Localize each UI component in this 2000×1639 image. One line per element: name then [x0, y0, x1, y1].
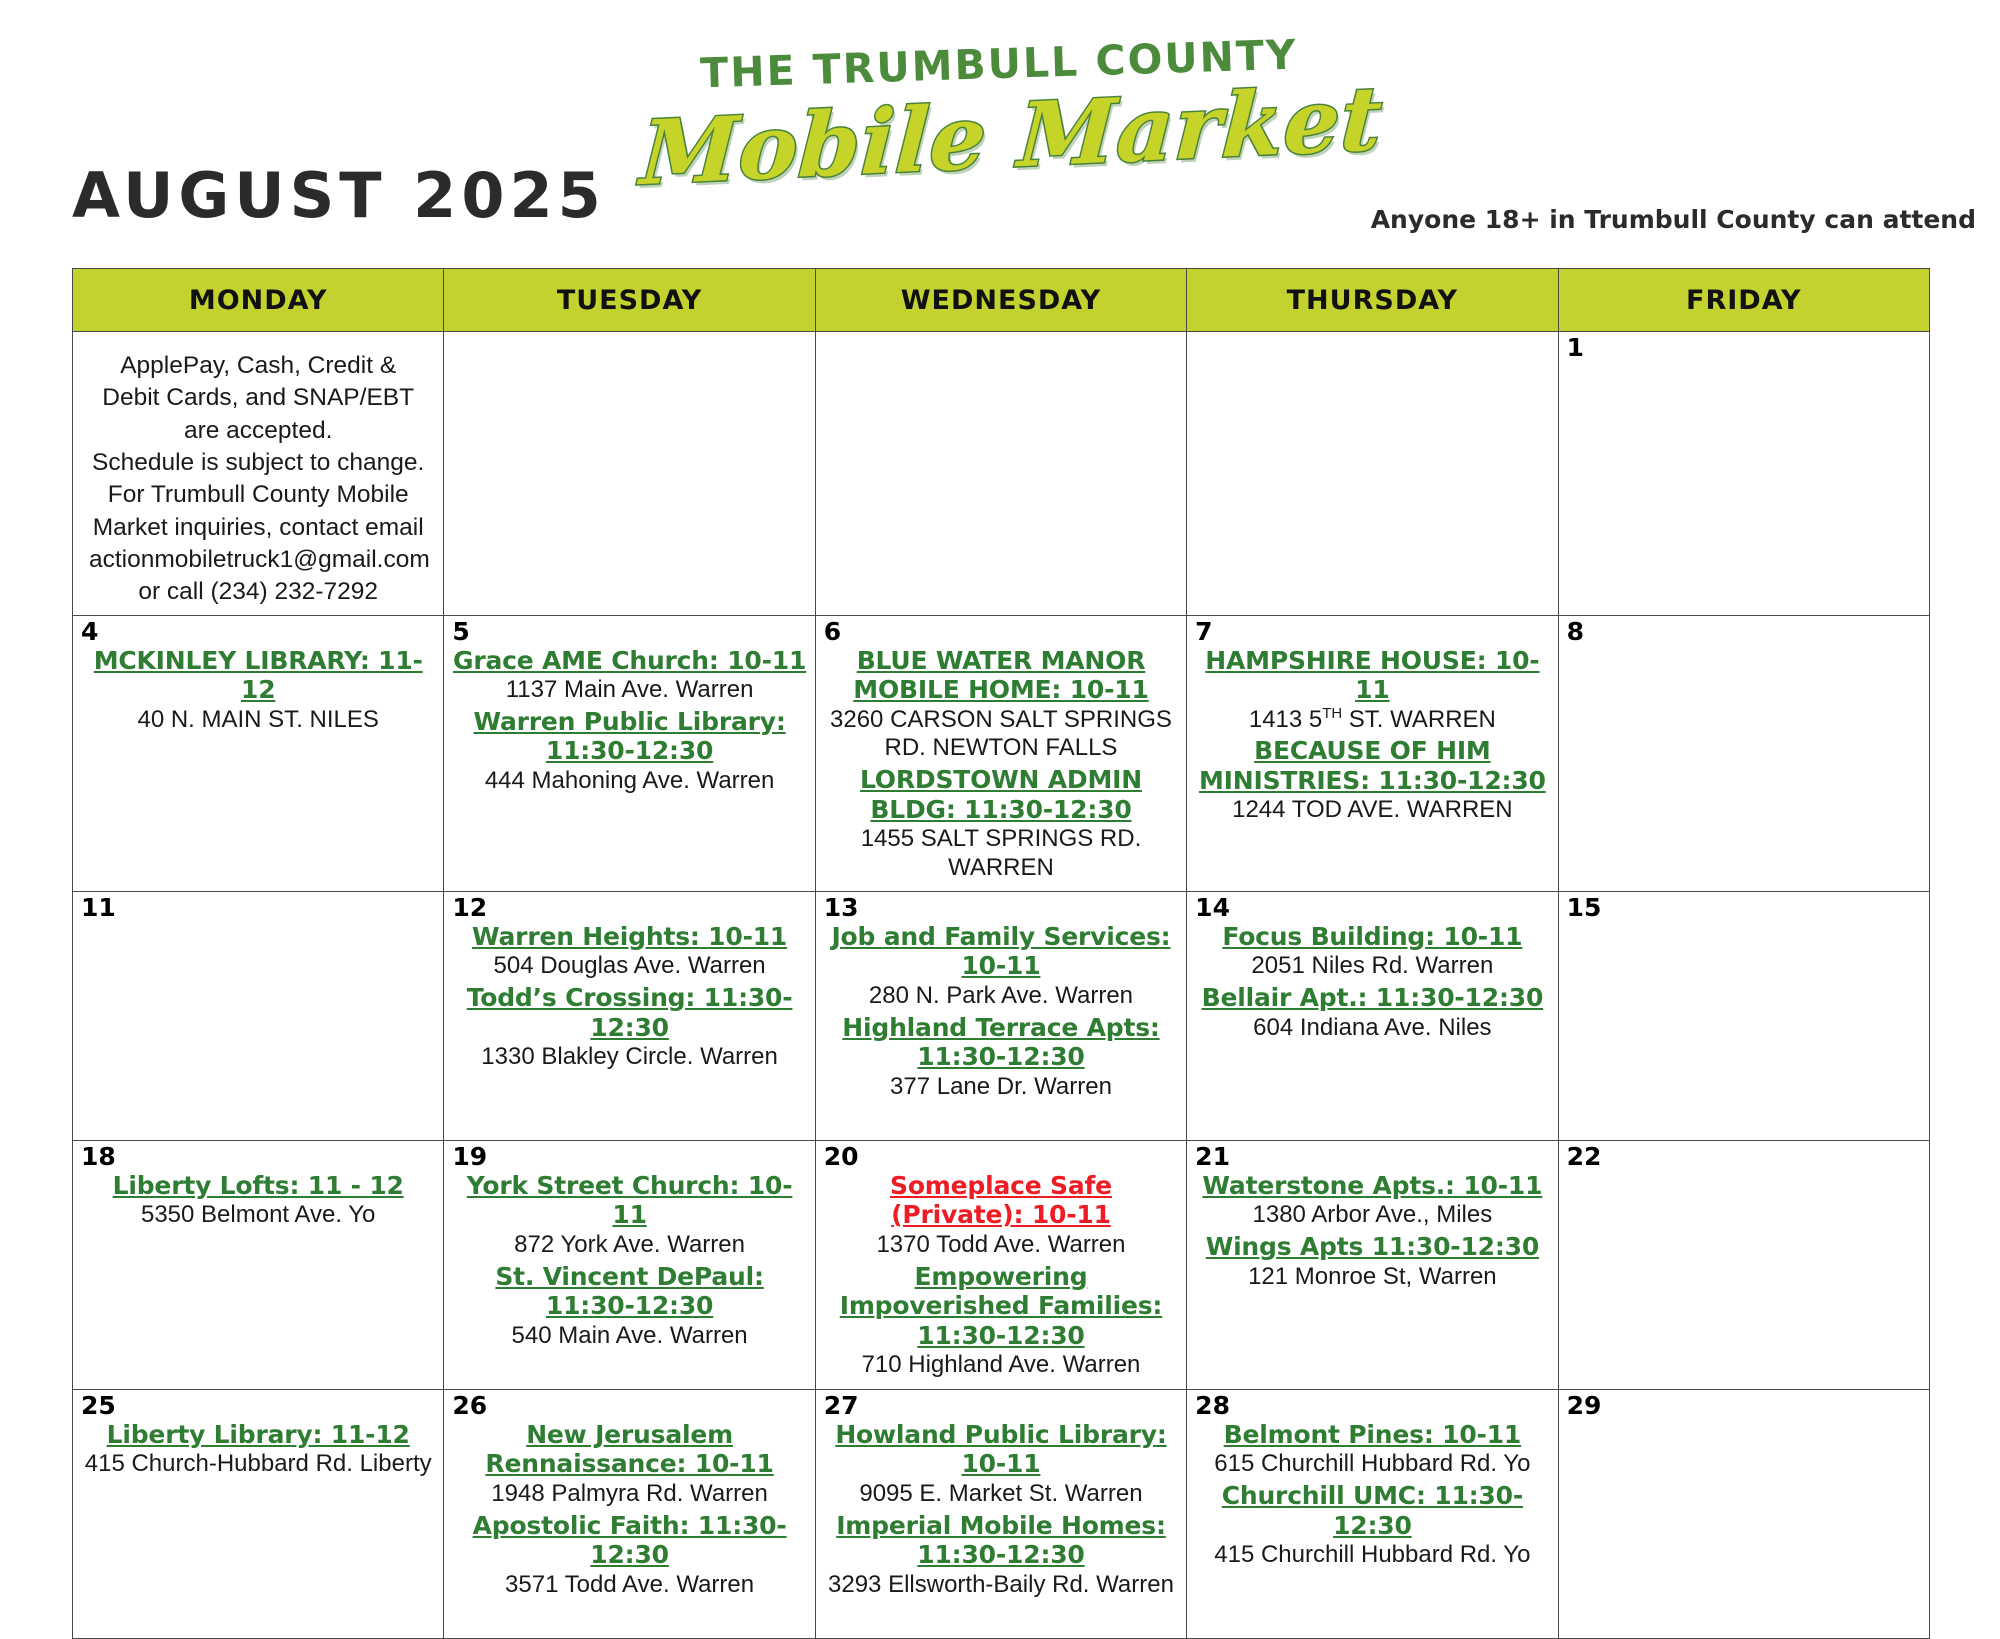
- weekday-header-row: MONDAY TUESDAY WEDNESDAY THURSDAY FRIDAY: [73, 269, 1930, 332]
- calendar-day-cell[interactable]: 18Liberty Lofts: 11 - 125350 Belmont Ave…: [73, 1140, 444, 1389]
- calendar-day-cell[interactable]: 29: [1558, 1389, 1929, 1638]
- day-number: 7: [1195, 618, 1212, 646]
- day-number: 19: [452, 1143, 487, 1171]
- weekday-header-tuesday: TUESDAY: [444, 269, 815, 332]
- calendar-event[interactable]: Job and Family Services: 10-11280 N. Par…: [824, 922, 1178, 1011]
- calendar-event[interactable]: New Jerusalem Rennaissance: 10-111948 Pa…: [452, 1420, 806, 1509]
- weekday-header-thursday: THURSDAY: [1187, 269, 1558, 332]
- day-events: Someplace Safe (Private): 10-111370 Todd…: [816, 1141, 1186, 1388]
- calendar-day-cell[interactable]: 15: [1558, 891, 1929, 1140]
- calendar-day-cell[interactable]: 1: [1558, 332, 1929, 616]
- calendar-day-cell[interactable]: 20Someplace Safe (Private): 10-111370 To…: [815, 1140, 1186, 1389]
- day-events: Howland Public Library: 10-119095 E. Mar…: [816, 1390, 1186, 1608]
- event-title: Todd’s Crossing: 11:30-12:30: [452, 983, 806, 1042]
- day-number: 12: [452, 894, 487, 922]
- calendar-event[interactable]: Apostolic Faith: 11:30-12:303571 Todd Av…: [452, 1511, 806, 1600]
- event-title: Warren Heights: 10-11: [452, 922, 806, 952]
- calendar-event[interactable]: Belmont Pines: 10-11615 Churchill Hubbar…: [1195, 1420, 1549, 1479]
- event-title: Highland Terrace Apts: 11:30-12:30: [824, 1013, 1178, 1072]
- day-number: 15: [1567, 894, 1602, 922]
- event-title: York Street Church: 10-11: [452, 1171, 806, 1230]
- calendar-day-cell[interactable]: [815, 332, 1186, 616]
- calendar-event[interactable]: Focus Building: 10-112051 Niles Rd. Warr…: [1195, 922, 1549, 981]
- event-address: 3260 CARSON SALT SPRINGS RD. NEWTON FALL…: [824, 706, 1178, 764]
- event-title: Belmont Pines: 10-11: [1195, 1420, 1549, 1450]
- day-number: 18: [81, 1143, 116, 1171]
- page-title: AUGUST 2025: [72, 165, 606, 227]
- calendar-week-row: ApplePay, Cash, Credit & Debit Cards, an…: [73, 332, 1930, 616]
- calendar-event[interactable]: Empowering Impoverished Families: 11:30-…: [824, 1262, 1178, 1380]
- calendar-event[interactable]: HAMPSHIRE HOUSE: 10-111413 5TH ST. WARRE…: [1195, 646, 1549, 735]
- day-number: 11: [81, 894, 116, 922]
- day-events: Grace AME Church: 10-111137 Main Ave. Wa…: [444, 616, 814, 804]
- day-number: 25: [81, 1392, 116, 1420]
- calendar-event[interactable]: Warren Heights: 10-11504 Douglas Ave. Wa…: [452, 922, 806, 981]
- event-address: 3293 Ellsworth-Baily Rd. Warren: [824, 1571, 1178, 1600]
- day-number: 1: [1567, 334, 1584, 362]
- event-address: 604 Indiana Ave. Niles: [1195, 1014, 1549, 1043]
- calendar-day-cell[interactable]: [1187, 332, 1558, 616]
- event-address: 3571 Todd Ave. Warren: [452, 1571, 806, 1600]
- calendar-event[interactable]: Wings Apts 11:30-12:30121 Monroe St, War…: [1195, 1232, 1549, 1291]
- event-address: 615 Churchill Hubbard Rd. Yo: [1195, 1450, 1549, 1479]
- event-title: New Jerusalem Rennaissance: 10-11: [452, 1420, 806, 1479]
- event-address: 872 York Ave. Warren: [452, 1231, 806, 1260]
- weekday-header-friday: FRIDAY: [1558, 269, 1929, 332]
- calendar-event[interactable]: St. Vincent DePaul: 11:30-12:30540 Main …: [452, 1262, 806, 1351]
- day-events: New Jerusalem Rennaissance: 10-111948 Pa…: [444, 1390, 814, 1608]
- calendar-day-cell[interactable]: 13Job and Family Services: 10-11280 N. P…: [815, 891, 1186, 1140]
- eligibility-tagline: Anyone 18+ in Trumbull County can attend: [1371, 205, 1976, 234]
- mobile-market-logo: THE TRUMBULL COUNTY Mobile Market: [639, 32, 1362, 195]
- event-title: Someplace Safe (Private): 10-11: [824, 1171, 1178, 1230]
- day-number: 6: [824, 618, 841, 646]
- calendar-event[interactable]: Waterstone Apts.: 10-111380 Arbor Ave., …: [1195, 1171, 1549, 1230]
- event-address: 377 Lane Dr. Warren: [824, 1073, 1178, 1102]
- event-address: 710 Highland Ave. Warren: [824, 1351, 1178, 1380]
- event-title: Bellair Apt.: 11:30-12:30: [1195, 983, 1549, 1013]
- event-title: Wings Apts 11:30-12:30: [1195, 1232, 1549, 1262]
- day-events: Focus Building: 10-112051 Niles Rd. Warr…: [1187, 892, 1557, 1051]
- ordinal-suffix: TH: [1322, 706, 1342, 722]
- calendar-day-cell[interactable]: 11: [73, 891, 444, 1140]
- event-title: Grace AME Church: 10-11: [452, 646, 806, 676]
- calendar-event[interactable]: Churchill UMC: 11:30-12:30415 Churchill …: [1195, 1481, 1549, 1570]
- event-address: 444 Mahoning Ave. Warren: [452, 767, 806, 796]
- calendar-event[interactable]: Howland Public Library: 10-119095 E. Mar…: [824, 1420, 1178, 1509]
- day-number: 21: [1195, 1143, 1230, 1171]
- calendar-day-cell[interactable]: 8: [1558, 615, 1929, 891]
- calendar-day-cell[interactable]: 27Howland Public Library: 10-119095 E. M…: [815, 1389, 1186, 1638]
- day-events: Liberty Library: 11-12415 Church-Hubbard…: [73, 1390, 443, 1487]
- calendar-day-cell[interactable]: 6BLUE WATER MANOR MOBILE HOME: 10-113260…: [815, 615, 1186, 891]
- calendar-event[interactable]: York Street Church: 10-11872 York Ave. W…: [452, 1171, 806, 1260]
- calendar-event[interactable]: Someplace Safe (Private): 10-111370 Todd…: [824, 1171, 1178, 1260]
- event-address: 121 Monroe St, Warren: [1195, 1263, 1549, 1292]
- event-title: Apostolic Faith: 11:30-12:30: [452, 1511, 806, 1570]
- event-title: Liberty Lofts: 11 - 12: [81, 1171, 435, 1201]
- calendar-day-cell[interactable]: 25Liberty Library: 11-12415 Church-Hubba…: [73, 1389, 444, 1638]
- day-number: 27: [824, 1392, 859, 1420]
- calendar-week-row: 25Liberty Library: 11-12415 Church-Hubba…: [73, 1389, 1930, 1638]
- calendar-week-row: 18Liberty Lofts: 11 - 125350 Belmont Ave…: [73, 1140, 1930, 1389]
- day-events: MCKINLEY LIBRARY: 11-12 40 N. MAIN ST. N…: [73, 616, 443, 743]
- calendar-event[interactable]: Grace AME Church: 10-111137 Main Ave. Wa…: [452, 646, 806, 705]
- payment-notice-line: ApplePay, Cash, Credit & Debit Cards, an…: [89, 350, 427, 447]
- calendar-page: AUGUST 2025 THE TRUMBULL COUNTY Mobile M…: [0, 0, 2000, 1545]
- day-events: York Street Church: 10-11872 York Ave. W…: [444, 1141, 814, 1359]
- event-address: 1330 Blakley Circle. Warren: [452, 1043, 806, 1072]
- page-header: AUGUST 2025 THE TRUMBULL COUNTY Mobile M…: [0, 0, 2000, 250]
- calendar-day-cell[interactable]: 14Focus Building: 10-112051 Niles Rd. Wa…: [1187, 891, 1558, 1140]
- calendar-week-row: 1112Warren Heights: 10-11504 Douglas Ave…: [73, 891, 1930, 1140]
- event-address: 1455 SALT SPRINGS RD. WARREN: [824, 825, 1178, 883]
- day-events: Liberty Lofts: 11 - 125350 Belmont Ave. …: [73, 1141, 443, 1238]
- calendar-day-cell[interactable]: 7HAMPSHIRE HOUSE: 10-111413 5TH ST. WARR…: [1187, 615, 1558, 891]
- event-address: 415 Church-Hubbard Rd. Liberty: [81, 1450, 435, 1479]
- calendar-event[interactable]: BECAUSE OF HIM MINISTRIES: 11:30-12:3012…: [1195, 736, 1549, 825]
- calendar-day-cell[interactable]: 22: [1558, 1140, 1929, 1389]
- weekday-header-wednesday: WEDNESDAY: [815, 269, 1186, 332]
- day-events: Job and Family Services: 10-11280 N. Par…: [816, 892, 1186, 1110]
- event-title: LORDSTOWN ADMIN BLDG: 11:30-12:30: [824, 765, 1178, 824]
- event-address: 415 Churchill Hubbard Rd. Yo: [1195, 1541, 1549, 1570]
- day-number: 28: [1195, 1392, 1230, 1420]
- calendar-day-cell[interactable]: 21Waterstone Apts.: 10-111380 Arbor Ave.…: [1187, 1140, 1558, 1389]
- month-calendar: MONDAY TUESDAY WEDNESDAY THURSDAY FRIDAY…: [72, 268, 1930, 1639]
- day-number: 13: [824, 894, 859, 922]
- calendar-event[interactable]: Todd’s Crossing: 11:30-12:301330 Blakley…: [452, 983, 806, 1072]
- calendar-event[interactable]: BLUE WATER MANOR MOBILE HOME: 10-113260 …: [824, 646, 1178, 764]
- calendar-day-cell[interactable]: 4MCKINLEY LIBRARY: 11-12 40 N. MAIN ST. …: [73, 615, 444, 891]
- calendar-day-cell[interactable]: 12Warren Heights: 10-11504 Douglas Ave. …: [444, 891, 815, 1140]
- payment-notice-line: actionmobiletruck1@gmail.com or call (23…: [89, 544, 427, 609]
- calendar-day-cell[interactable]: 19York Street Church: 10-11872 York Ave.…: [444, 1140, 815, 1389]
- calendar-event[interactable]: MCKINLEY LIBRARY: 11-12 40 N. MAIN ST. N…: [81, 646, 435, 735]
- event-title: Job and Family Services: 10-11: [824, 922, 1178, 981]
- event-address: 540 Main Ave. Warren: [452, 1322, 806, 1351]
- calendar-event[interactable]: LORDSTOWN ADMIN BLDG: 11:30-12:301455 SA…: [824, 765, 1178, 883]
- calendar-day-cell[interactable]: [444, 332, 815, 616]
- event-title: Imperial Mobile Homes: 11:30-12:30: [824, 1511, 1178, 1570]
- payment-notice-line: Schedule is subject to change.: [89, 447, 427, 479]
- event-address: 504 Douglas Ave. Warren: [452, 952, 806, 981]
- event-title: MCKINLEY LIBRARY: 11-12: [81, 646, 435, 705]
- event-address: 1244 TOD AVE. WARREN: [1195, 796, 1549, 825]
- day-number: 29: [1567, 1392, 1602, 1420]
- day-events: HAMPSHIRE HOUSE: 10-111413 5TH ST. WARRE…: [1187, 616, 1557, 834]
- event-title: BECAUSE OF HIM MINISTRIES: 11:30-12:30: [1195, 736, 1549, 795]
- event-address: 1380 Arbor Ave., Miles: [1195, 1201, 1549, 1230]
- calendar-week-row: 4MCKINLEY LIBRARY: 11-12 40 N. MAIN ST. …: [73, 615, 1930, 891]
- calendar-day-cell[interactable]: 5Grace AME Church: 10-111137 Main Ave. W…: [444, 615, 815, 891]
- day-number: 5: [452, 618, 469, 646]
- day-events: Waterstone Apts.: 10-111380 Arbor Ave., …: [1187, 1141, 1557, 1300]
- event-address: 1413 5TH ST. WARREN: [1195, 706, 1549, 735]
- calendar-body: ApplePay, Cash, Credit & Debit Cards, an…: [73, 332, 1930, 1639]
- calendar-event[interactable]: Liberty Library: 11-12415 Church-Hubbard…: [81, 1420, 435, 1479]
- day-events: Belmont Pines: 10-11615 Churchill Hubbar…: [1187, 1390, 1557, 1578]
- calendar-event[interactable]: Imperial Mobile Homes: 11:30-12:303293 E…: [824, 1511, 1178, 1600]
- day-number: 20: [824, 1143, 859, 1171]
- calendar-event[interactable]: Highland Terrace Apts: 11:30-12:30377 La…: [824, 1013, 1178, 1102]
- event-address: 9095 E. Market St. Warren: [824, 1480, 1178, 1509]
- calendar-event[interactable]: Warren Public Library: 11:30-12:30444 Ma…: [452, 707, 806, 796]
- calendar-day-cell[interactable]: 28Belmont Pines: 10-11615 Churchill Hubb…: [1187, 1389, 1558, 1638]
- day-events: Warren Heights: 10-11504 Douglas Ave. Wa…: [444, 892, 814, 1080]
- event-title: BLUE WATER MANOR MOBILE HOME: 10-11: [824, 646, 1178, 705]
- event-address: 1948 Palmyra Rd. Warren: [452, 1480, 806, 1509]
- calendar-event[interactable]: Bellair Apt.: 11:30-12:30604 Indiana Ave…: [1195, 983, 1549, 1042]
- event-address: 2051 Niles Rd. Warren: [1195, 952, 1549, 981]
- event-title: Liberty Library: 11-12: [81, 1420, 435, 1450]
- event-title: Waterstone Apts.: 10-11: [1195, 1171, 1549, 1201]
- event-title: Empowering Impoverished Families: 11:30-…: [824, 1262, 1178, 1351]
- day-events: BLUE WATER MANOR MOBILE HOME: 10-113260 …: [816, 616, 1186, 891]
- day-number: 8: [1567, 618, 1584, 646]
- day-number: 26: [452, 1392, 487, 1420]
- event-address: 1137 Main Ave. Warren: [452, 676, 806, 705]
- event-title: Warren Public Library: 11:30-12:30: [452, 707, 806, 766]
- event-address: 40 N. MAIN ST. NILES: [81, 706, 435, 735]
- event-title: HAMPSHIRE HOUSE: 10-11: [1195, 646, 1549, 705]
- payment-notice: ApplePay, Cash, Credit & Debit Cards, an…: [73, 332, 443, 615]
- event-title: Focus Building: 10-11: [1195, 922, 1549, 952]
- weekday-header-monday: MONDAY: [73, 269, 444, 332]
- day-number: 4: [81, 618, 98, 646]
- event-address: 5350 Belmont Ave. Yo: [81, 1201, 435, 1230]
- calendar-day-cell[interactable]: 26New Jerusalem Rennaissance: 10-111948 …: [444, 1389, 815, 1638]
- event-address: 1370 Todd Ave. Warren: [824, 1231, 1178, 1260]
- calendar-day-cell[interactable]: ApplePay, Cash, Credit & Debit Cards, an…: [73, 332, 444, 616]
- day-number: 22: [1567, 1143, 1602, 1171]
- event-title: Churchill UMC: 11:30-12:30: [1195, 1481, 1549, 1540]
- calendar-event[interactable]: Liberty Lofts: 11 - 125350 Belmont Ave. …: [81, 1171, 435, 1230]
- event-title: Howland Public Library: 10-11: [824, 1420, 1178, 1479]
- event-address: 280 N. Park Ave. Warren: [824, 982, 1178, 1011]
- payment-notice-line: For Trumbull County Mobile Market inquir…: [89, 479, 427, 544]
- event-title: St. Vincent DePaul: 11:30-12:30: [452, 1262, 806, 1321]
- day-number: 14: [1195, 894, 1230, 922]
